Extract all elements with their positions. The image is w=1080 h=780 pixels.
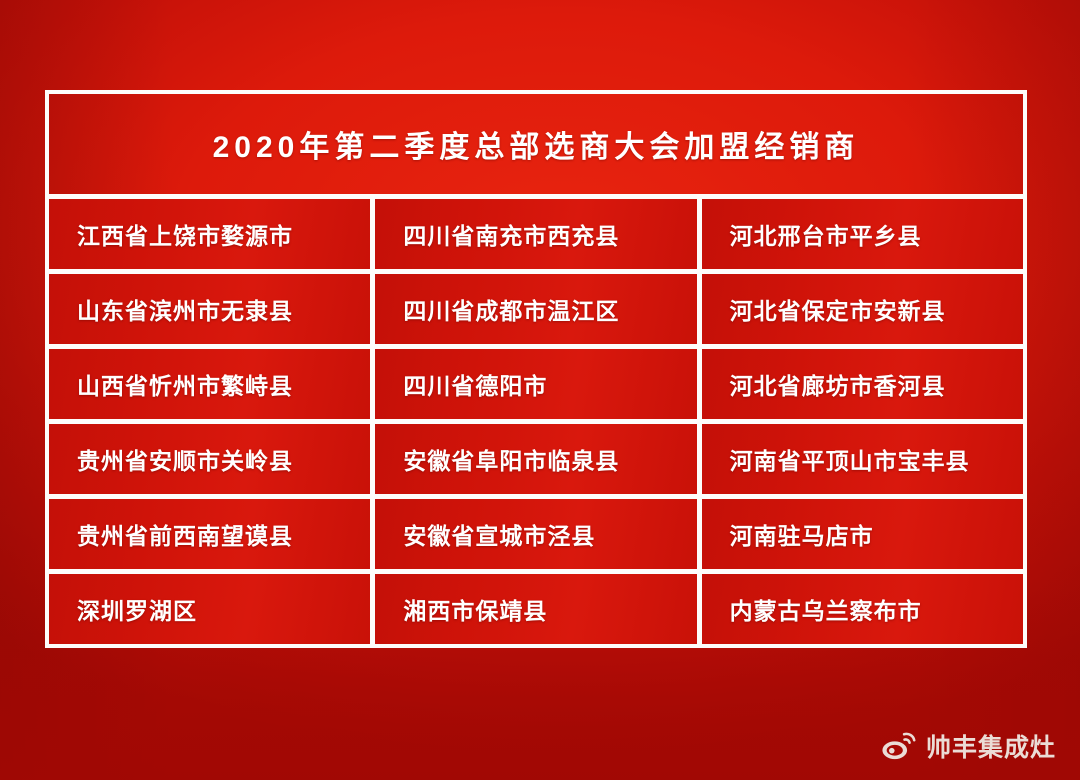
table-cell-label: 四川省成都市温江区 [403, 292, 619, 326]
table-cell-label: 河南驻马店市 [730, 517, 874, 551]
table-cell: 河北省保定市安新县 [702, 274, 1023, 344]
table-cell: 四川省成都市温江区 [375, 274, 696, 344]
table-cell-label: 湘西市保靖县 [403, 592, 547, 626]
table-cell: 湘西市保靖县 [375, 574, 696, 644]
table-cell-label: 贵州省安顺市关岭县 [77, 442, 293, 476]
table-cell-label: 四川省南充市西充县 [403, 217, 619, 251]
table-cell-label: 四川省德阳市 [403, 367, 547, 401]
title-bar: 2020年第二季度总部选商大会加盟经销商 [49, 94, 1023, 194]
table-cell: 江西省上饶市婺源市 [49, 199, 370, 269]
table-cell-label: 山西省忻州市繁峙县 [77, 367, 293, 401]
table-cell: 贵州省安顺市关岭县 [49, 424, 370, 494]
table-cell: 安徽省宣城市泾县 [375, 499, 696, 569]
table-cell: 河北邢台市平乡县 [702, 199, 1023, 269]
table-cell: 河南驻马店市 [702, 499, 1023, 569]
table-cell: 内蒙古乌兰察布市 [702, 574, 1023, 644]
watermark-label: 帅丰集成灶 [926, 728, 1056, 764]
table-cell: 山西省忻州市繁峙县 [49, 349, 370, 419]
table-cell: 贵州省前西南望谟县 [49, 499, 370, 569]
table-cell-label: 安徽省阜阳市临泉县 [403, 442, 619, 476]
table-cell: 四川省南充市西充县 [375, 199, 696, 269]
table-cell: 深圳罗湖区 [49, 574, 370, 644]
table-cell-label: 内蒙古乌兰察布市 [730, 592, 922, 626]
weibo-icon [882, 731, 916, 761]
table-cell-label: 深圳罗湖区 [77, 592, 197, 626]
dealer-table: 江西省上饶市婺源市 四川省南充市西充县 河北邢台市平乡县 山东省滨州市无隶县 四… [49, 199, 1023, 644]
table-cell-label: 河南省平顶山市宝丰县 [730, 442, 970, 476]
table-cell-label: 江西省上饶市婺源市 [77, 217, 293, 251]
table-cell-label: 安徽省宣城市泾县 [403, 517, 595, 551]
page-title: 2020年第二季度总部选商大会加盟经销商 [213, 122, 860, 166]
table-cell: 河南省平顶山市宝丰县 [702, 424, 1023, 494]
table-cell: 安徽省阜阳市临泉县 [375, 424, 696, 494]
poster-background: 2020年第二季度总部选商大会加盟经销商 江西省上饶市婺源市 四川省南充市西充县… [0, 0, 1080, 780]
table-cell: 四川省德阳市 [375, 349, 696, 419]
table-frame: 2020年第二季度总部选商大会加盟经销商 江西省上饶市婺源市 四川省南充市西充县… [45, 90, 1027, 648]
table-cell-label: 河北省保定市安新县 [730, 292, 946, 326]
table-cell-label: 河北邢台市平乡县 [730, 217, 922, 251]
table-cell: 山东省滨州市无隶县 [49, 274, 370, 344]
watermark: 帅丰集成灶 [882, 728, 1056, 764]
table-cell-label: 山东省滨州市无隶县 [77, 292, 293, 326]
table-cell-label: 河北省廊坊市香河县 [730, 367, 946, 401]
table-cell-label: 贵州省前西南望谟县 [77, 517, 293, 551]
table-cell: 河北省廊坊市香河县 [702, 349, 1023, 419]
